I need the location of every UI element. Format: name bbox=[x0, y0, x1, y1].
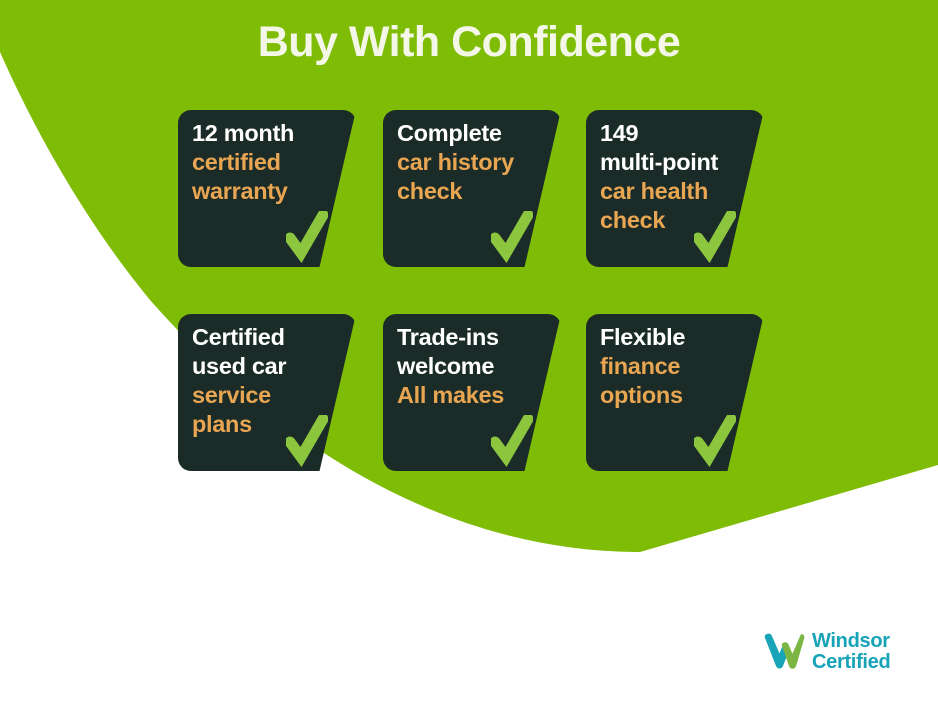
card-line: Flexible bbox=[600, 323, 755, 352]
card-line: 12 month bbox=[192, 119, 347, 148]
card-line: All makes bbox=[397, 381, 552, 410]
brand-logo: Windsor Certified bbox=[762, 626, 922, 678]
card-line: multi-point bbox=[600, 148, 755, 177]
card-line: welcome bbox=[397, 352, 552, 381]
card-line: car health bbox=[600, 177, 755, 206]
check-icon bbox=[286, 211, 328, 263]
check-icon bbox=[694, 211, 736, 263]
logo-line-certified: Certified bbox=[812, 652, 890, 673]
card-line: service bbox=[192, 381, 347, 410]
card-text-block: Flexible finance options bbox=[600, 323, 755, 410]
benefit-card-certified-warranty[interactable]: 12 month certified warranty bbox=[178, 110, 356, 267]
card-line: certified bbox=[192, 148, 347, 177]
benefit-card-car-history-check[interactable]: Complete car history check bbox=[383, 110, 561, 267]
card-line: finance bbox=[600, 352, 755, 381]
logo-wordmark: Windsor Certified bbox=[812, 631, 890, 673]
check-icon bbox=[694, 415, 736, 467]
benefit-card-trade-ins-welcome[interactable]: Trade-ins welcome All makes bbox=[383, 314, 561, 471]
benefit-card-service-plans[interactable]: Certified used car service plans bbox=[178, 314, 356, 471]
check-icon bbox=[491, 211, 533, 263]
card-text-block: 12 month certified warranty bbox=[192, 119, 347, 206]
card-line: used car bbox=[192, 352, 347, 381]
card-line: check bbox=[397, 177, 552, 206]
page-title: Buy With Confidence bbox=[0, 18, 938, 67]
card-line: Certified bbox=[192, 323, 347, 352]
benefit-card-flexible-finance[interactable]: Flexible finance options bbox=[586, 314, 764, 471]
logo-line-windsor: Windsor bbox=[812, 631, 890, 652]
check-icon bbox=[286, 415, 328, 467]
card-line: Trade-ins bbox=[397, 323, 552, 352]
benefit-card-multi-point-health-check[interactable]: 149 multi-point car health check bbox=[586, 110, 764, 267]
card-text-block: Trade-ins welcome All makes bbox=[397, 323, 552, 410]
card-line: warranty bbox=[192, 177, 347, 206]
promo-graphic: Buy With Confidence 12 month certified w… bbox=[0, 0, 938, 704]
check-icon bbox=[491, 415, 533, 467]
card-line: car history bbox=[397, 148, 552, 177]
card-line: options bbox=[600, 381, 755, 410]
windsor-w-mark-icon bbox=[762, 632, 806, 672]
card-line: Complete bbox=[397, 119, 552, 148]
card-text-block: Complete car history check bbox=[397, 119, 552, 206]
card-line: 149 bbox=[600, 119, 755, 148]
